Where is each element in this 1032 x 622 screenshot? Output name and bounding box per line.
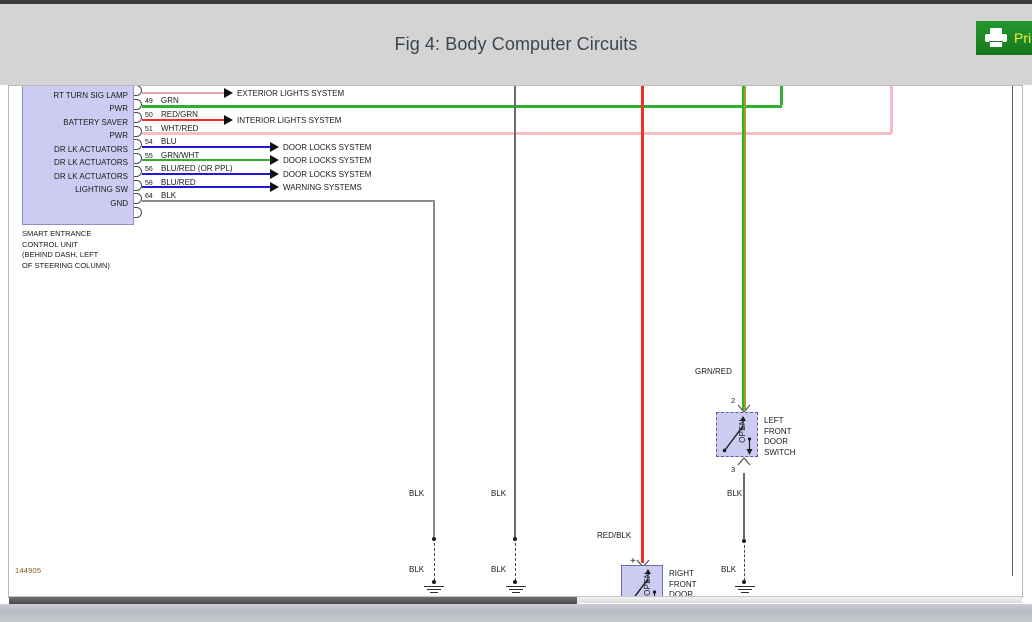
wire-name-56: BLU/RED (OR PPL): [161, 164, 233, 173]
arrowhead-door-locks-2: [270, 155, 279, 165]
splice-dot-g200a-bottom: [432, 580, 436, 584]
wire-run-g200a-dashed: [434, 543, 435, 581]
splice-dot-g200b-bottom: [742, 580, 746, 584]
connector-arc-7: [134, 180, 142, 191]
print-button[interactable]: Print: [976, 21, 1032, 55]
page-bottom-strip: [0, 604, 1032, 622]
wire-run-g203-dashed: [515, 543, 516, 581]
control-unit-name-line-2: (BEHIND DASH, LEFT: [22, 250, 110, 261]
wire-label-g203-lower: BLK: [491, 565, 506, 574]
pin-label-8: GND: [22, 197, 132, 211]
wire-run-door-locks-1: [142, 146, 270, 148]
pin-number-56: 56: [145, 166, 153, 173]
ground-symbol-g200a: [423, 586, 445, 596]
lf-switch-terminal-3: 3: [731, 465, 735, 474]
control-unit-pin-labels: RT TURN SIG LAMP PWR BATTERY SAVER PWR D…: [22, 89, 132, 211]
wire-run-interior-lights: [142, 119, 224, 121]
wiring-diagram: RT TURN SIG LAMP PWR BATTERY SAVER PWR D…: [9, 85, 1022, 598]
destination-warning-systems: WARNING SYSTEMS: [283, 183, 362, 192]
connector-arc-6: [134, 166, 142, 177]
wire-name-64: BLK: [161, 191, 176, 200]
connector-arc-4: [134, 139, 142, 150]
lf-switch-state-text: OPEN: [738, 419, 747, 443]
splice-dot-g200a: [432, 537, 436, 541]
wire-label-g200b-lower: BLK: [721, 565, 736, 574]
control-unit-name-line-1: CONTROL UNIT: [22, 240, 110, 251]
lf-switch-name-2: DOOR: [764, 437, 796, 448]
destination-exterior-lights: EXTERIOR LIGHTS SYSTEM: [237, 89, 344, 98]
horizontal-scrollbar[interactable]: [9, 596, 1022, 603]
ground-symbol-g200b: [734, 586, 756, 596]
connector-arc-3: [134, 126, 142, 137]
ground-symbol-g203: [505, 586, 527, 596]
diagram-viewport[interactable]: RT TURN SIG LAMP PWR BATTERY SAVER PWR D…: [8, 85, 1023, 598]
wire-label-g200a-upper: BLK: [409, 489, 424, 498]
wire-label-g200a-lower: BLK: [409, 565, 424, 574]
lf-switch-name-0: LEFT: [764, 416, 796, 427]
lf-switch-bottom-connector-icon: [737, 457, 751, 467]
wire-label-g203-upper: BLK: [491, 489, 506, 498]
print-button-label: Print: [1014, 30, 1032, 46]
wire-name-50: RED/GRN: [161, 110, 198, 119]
splice-dot-g203: [513, 537, 517, 541]
pin-number-50: 50: [145, 112, 153, 119]
figure-id-number: 144905: [15, 566, 41, 575]
pin-label-7: LIGHTING SW: [22, 184, 132, 198]
pin-label-1: PWR: [22, 103, 132, 117]
lf-switch-terminal-2: 2: [731, 396, 735, 405]
wire-run-lf-switch-gnd: [743, 473, 745, 539]
control-unit-caption: SMART ENTRANCE CONTROL UNIT (BEHIND DASH…: [22, 229, 110, 271]
rf-switch-contact-symbol: [621, 565, 663, 598]
wire-run-pink-main: [142, 132, 892, 135]
wire-run-green-main: [142, 105, 782, 108]
pin-label-0: RT TURN SIG LAMP: [22, 89, 132, 103]
pin-label-4: DR LK ACTUATORS: [22, 143, 132, 157]
connector-arc-8: [134, 193, 142, 204]
destination-interior-lights: INTERIOR LIGHTS SYSTEM: [237, 116, 341, 125]
printer-icon: [985, 28, 1007, 48]
arrowhead-exterior-lights: [224, 88, 233, 98]
pin-label-6: DR LK ACTUATORS: [22, 170, 132, 184]
arrowhead-warning-systems: [270, 182, 279, 192]
wire-run-red-blk-trunk: [641, 85, 644, 563]
page-header: Fig 4: Body Computer Circuits Print: [0, 4, 1032, 85]
right-front-door-switch-caption: RIGHT FRONT DOOR SWITCH: [669, 569, 701, 598]
wire-run-exterior-lights: [142, 92, 224, 94]
horizontal-scrollbar-thumb[interactable]: [9, 597, 577, 604]
screenshot-root: Fig 4: Body Computer Circuits Print RT T…: [0, 0, 1032, 622]
wire-run-door-locks-3: [142, 173, 270, 175]
control-unit-name-line-3: OF STEERING COLUMN): [22, 261, 110, 272]
left-front-door-switch-caption: LEFT FRONT DOOR SWITCH: [764, 416, 796, 458]
connector-arc-1: [134, 99, 142, 110]
wire-run-green-riser: [780, 85, 783, 105]
destination-door-locks-3: DOOR LOCKS SYSTEM: [283, 170, 371, 179]
wire-label-red-blk: RED/BLK: [597, 531, 631, 540]
pin-number-49: 49: [145, 98, 153, 105]
lf-switch-name-3: SWITCH: [764, 448, 796, 459]
wire-label-lf-switch-blk: BLK: [727, 489, 742, 498]
wire-run-gnd-64-horizontal: [142, 200, 435, 202]
lf-switch-name-1: FRONT: [764, 427, 796, 438]
rf-switch-name-1: FRONT: [669, 580, 701, 591]
connector-arc-2: [134, 112, 142, 123]
wire-run-blk-trunk-g203: [514, 85, 516, 537]
connector-arc-5: [134, 153, 142, 164]
pin-label-5: DR LK ACTUATORS: [22, 157, 132, 171]
wire-run-gnd-64-down: [433, 200, 435, 537]
wire-name-54: BLU: [161, 137, 177, 146]
rf-switch-state-text: OPEN: [643, 572, 652, 596]
arrowhead-door-locks-1: [270, 142, 279, 152]
diagram-right-rule: [1012, 85, 1013, 576]
pin-number-54: 54: [145, 139, 153, 146]
wire-label-grn-red: GRN/RED: [695, 367, 732, 376]
splice-dot-g203-bottom: [513, 580, 517, 584]
arrowhead-door-locks-3: [270, 169, 279, 179]
destination-door-locks-2: DOOR LOCKS SYSTEM: [283, 156, 371, 165]
pin-number-64: 64: [145, 193, 153, 200]
wire-run-pink-riser: [890, 85, 893, 133]
wire-run-warning-systems: [142, 186, 270, 188]
splice-dot-g200b: [742, 539, 746, 543]
wire-run-grn-red-red: [744, 85, 746, 410]
connector-arc-0: [134, 85, 142, 96]
lf-switch-contact-symbol: [716, 412, 758, 457]
pin-label-2: BATTERY SAVER: [22, 116, 132, 130]
connector-arc-9: [134, 207, 142, 218]
wire-run-door-locks-2: [142, 159, 270, 161]
pin-label-3: PWR: [22, 130, 132, 144]
control-unit-name-line-0: SMART ENTRANCE: [22, 229, 110, 240]
wire-name-49: GRN: [161, 96, 179, 105]
destination-door-locks-1: DOOR LOCKS SYSTEM: [283, 143, 371, 152]
page-title: Fig 4: Body Computer Circuits: [0, 34, 1032, 55]
wire-run-g200b-dashed: [744, 545, 745, 581]
rf-switch-name-0: RIGHT: [669, 569, 701, 580]
arrowhead-interior-lights: [224, 115, 233, 125]
